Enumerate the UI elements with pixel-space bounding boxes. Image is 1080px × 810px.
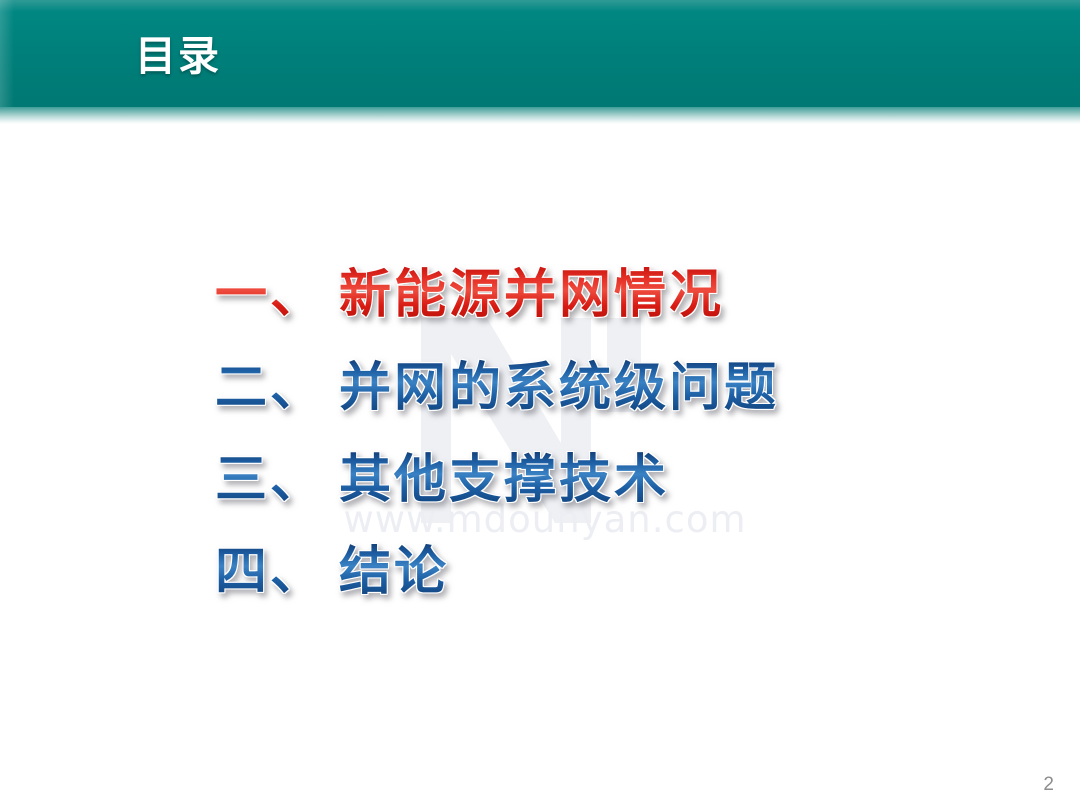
- toc-item-4[interactable]: 四、结论: [215, 543, 449, 601]
- toc-item-2-number: 二、: [215, 358, 325, 418]
- toc-item-1-number: 一、: [215, 265, 325, 325]
- table-of-contents: 一、新能源并网情况 二、并网的系统级问题 三、其他支撑技术 四、结论: [0, 0, 1080, 810]
- toc-item-3-label: 其他支撑技术: [339, 450, 669, 510]
- toc-item-2-label: 并网的系统级问题: [339, 358, 779, 418]
- toc-item-3-number: 三、: [215, 450, 325, 510]
- slide-canvas: www.mdounyan.com 目录 一、新能源并网情况 二、并网的系统级问题…: [0, 0, 1080, 810]
- toc-item-4-label: 结论: [339, 542, 449, 602]
- toc-item-1[interactable]: 一、新能源并网情况: [215, 266, 724, 324]
- toc-item-2[interactable]: 二、并网的系统级问题: [215, 359, 779, 417]
- toc-item-4-number: 四、: [215, 542, 325, 602]
- toc-item-1-label: 新能源并网情况: [339, 265, 724, 325]
- toc-item-3[interactable]: 三、其他支撑技术: [215, 451, 669, 509]
- page-number: 2: [1043, 774, 1054, 796]
